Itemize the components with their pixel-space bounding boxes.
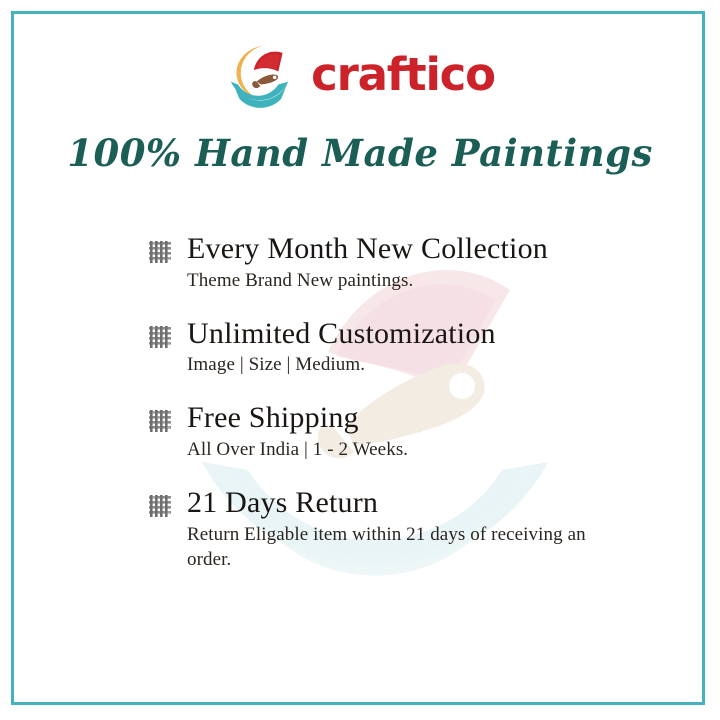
page-title: 100% Hand Made Paintings: [0, 131, 720, 175]
promo-banner: craftico 100% Hand Made Paintings: [0, 0, 720, 720]
feature-subtitle: Theme Brand New paintings.: [187, 268, 618, 293]
woven-grid-square-icon: [148, 409, 172, 433]
feature-list: Every Month New Collection Theme Brand N…: [148, 232, 618, 572]
woven-grid-square-icon: [148, 325, 172, 349]
brand-logo: craftico: [0, 34, 720, 112]
brand-wordmark: craftico: [311, 52, 495, 97]
feature-subtitle: All Over India | 1 - 2 Weeks.: [187, 437, 618, 462]
list-item: Unlimited Customization Image | Size | M…: [148, 317, 618, 378]
list-item: Every Month New Collection Theme Brand N…: [148, 232, 618, 293]
woven-grid-square-icon: [148, 494, 172, 518]
craftico-c-paintbrush-logo-icon: [225, 37, 297, 109]
feature-subtitle: Image | Size | Medium.: [187, 352, 618, 377]
feature-title: Free Shipping: [187, 401, 618, 435]
feature-title: Every Month New Collection: [187, 232, 618, 266]
woven-grid-square-icon: [148, 240, 172, 264]
feature-subtitle: Return Eligable item within 21 days of r…: [187, 522, 618, 572]
feature-title: Unlimited Customization: [187, 317, 618, 351]
feature-title: 21 Days Return: [187, 486, 618, 520]
list-item: 21 Days Return Return Eligable item with…: [148, 486, 618, 572]
list-item: Free Shipping All Over India | 1 - 2 Wee…: [148, 401, 618, 462]
